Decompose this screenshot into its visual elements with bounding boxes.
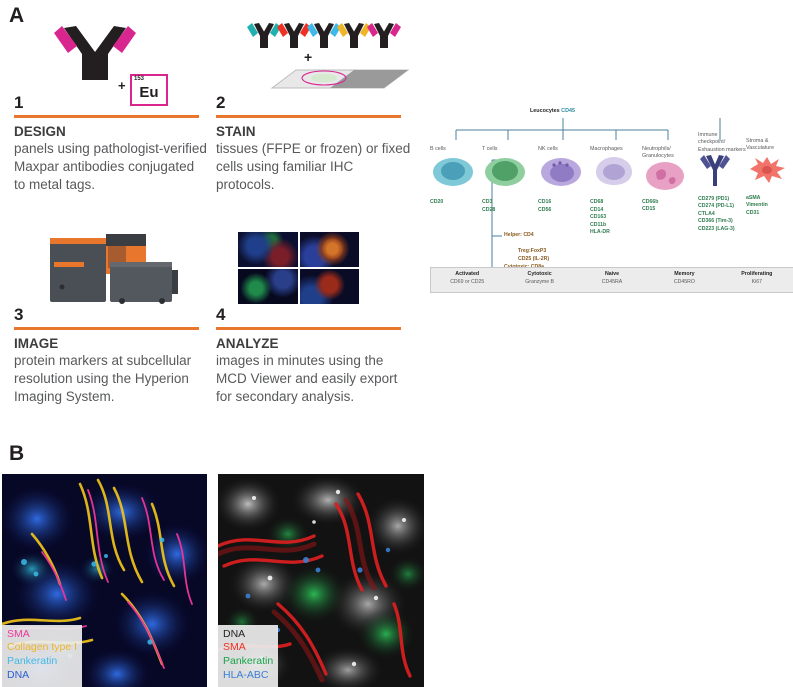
t-cell-state-table: Activated CD69 or CD25 Cytotoxic Granzym… bbox=[430, 267, 793, 293]
cell-icon-stromal bbox=[746, 155, 790, 189]
step-2-body: tissues (FFPE or frozen) or fixed cells … bbox=[216, 140, 411, 193]
antibody-panel-icon bbox=[242, 22, 402, 52]
step-1-title: DESIGN bbox=[14, 123, 209, 141]
step-1-body: panels using pathologist-verified Maxpar… bbox=[14, 140, 209, 193]
step-4-title: ANALYZE bbox=[216, 335, 411, 353]
node-markers: CD3 CD28 bbox=[482, 199, 540, 214]
node-label: T cells bbox=[482, 146, 540, 153]
imc-thumb bbox=[300, 232, 360, 267]
t-subset-treg: Treg:FoxP3 CD25 (IL-2R) bbox=[518, 248, 549, 263]
state-title: Naive bbox=[576, 271, 648, 279]
state-column-cytotoxic: Cytotoxic Granzyme B bbox=[503, 268, 575, 292]
node-markers: CD66b CD15 bbox=[642, 199, 698, 214]
step-1-number: 1 bbox=[14, 94, 209, 111]
state-column-activated: Activated CD69 or CD25 bbox=[431, 268, 503, 292]
antibody-icon bbox=[52, 24, 138, 86]
lineage-root: Leucocytes CD45 bbox=[530, 108, 575, 114]
step-4-body: images in minutes using the MCD Viewer a… bbox=[216, 352, 411, 405]
step-4-artwork bbox=[216, 232, 411, 304]
state-column-proliferating: Proliferating Ki67 bbox=[721, 268, 793, 292]
step-1-artwork: + 153 Eu bbox=[14, 20, 209, 92]
node-label: Immune checkpoint/ Exhaustion markers bbox=[698, 132, 746, 154]
state-markers: CD69 or CD25 bbox=[431, 279, 503, 287]
state-title: Cytotoxic bbox=[503, 271, 575, 279]
state-markers: CD45RA bbox=[576, 279, 648, 287]
lineage-root-marker: CD45 bbox=[561, 108, 575, 114]
step-3-body: protein markers at subcellular resolutio… bbox=[14, 352, 209, 405]
step-3-divider bbox=[14, 327, 199, 330]
lineage-root-label: Leucocytes bbox=[530, 108, 560, 114]
state-markers: CD45RO bbox=[648, 279, 720, 287]
metal-tag-box: 153 Eu bbox=[130, 74, 168, 106]
imc-thumb bbox=[238, 269, 298, 304]
lineage-node-t-cells: T cells CD3 CD28 bbox=[482, 146, 540, 214]
legend-left: SMA Collagen type I Pankeratin DNA bbox=[2, 625, 82, 687]
plus-symbol: + bbox=[304, 49, 312, 65]
plus-symbol: + bbox=[118, 78, 126, 93]
imc-thumb bbox=[238, 232, 298, 267]
step-2-title: STAIN bbox=[216, 123, 411, 141]
legend-item: HLA-ABC bbox=[223, 669, 273, 683]
node-markers: CD20 bbox=[430, 199, 488, 207]
lineage-node-checkpoint-markers: Immune checkpoint/ Exhaustion markers CD… bbox=[698, 132, 746, 234]
cell-icon-nk-cell bbox=[538, 153, 596, 187]
node-label: Stroma & Vasculature bbox=[746, 138, 790, 153]
legend-item: Pankeratin bbox=[7, 655, 77, 669]
tissue-slide-icon bbox=[246, 66, 411, 92]
legend-right: DNA SMA Pankeratin HLA-ABC bbox=[218, 625, 278, 687]
legend-item: DNA bbox=[7, 669, 77, 683]
lineage-node-nk-cells: NK cells CD16 CD56 bbox=[538, 146, 596, 214]
lineage-node-neutrophils: Neutrophils/ Granulocytes CD66b CD15 bbox=[642, 146, 698, 214]
imc-thumb bbox=[300, 269, 360, 304]
step-2-divider bbox=[216, 115, 401, 118]
node-markers: aSMA Vimentin CD31 bbox=[746, 195, 790, 218]
workflow-step-2: + 2 STAIN tissues (FFPE or frozen) or fi… bbox=[216, 20, 411, 194]
node-label: NK cells bbox=[538, 146, 596, 153]
workflow-step-4: 4 ANALYZE images in minutes using the MC… bbox=[216, 232, 411, 406]
imc-image-right: DNA SMA Pankeratin HLA-ABC bbox=[218, 474, 424, 687]
imc-image-grid bbox=[238, 232, 359, 304]
node-label: B cells bbox=[430, 146, 488, 153]
step-3-artwork bbox=[14, 232, 209, 304]
legend-item: SMA bbox=[7, 628, 77, 642]
hyperion-instrument-icon bbox=[48, 232, 183, 309]
workflow-step-1: + 153 Eu 1 DESIGN panels using pathologi… bbox=[14, 20, 209, 194]
t-subset-helper: Helper: CD4 bbox=[504, 232, 534, 240]
legend-item: Collagen type I bbox=[7, 641, 77, 655]
step-2-artwork: + bbox=[216, 20, 411, 92]
cell-icon-b-cell bbox=[430, 153, 488, 187]
checkpoint-antibody-icon bbox=[698, 154, 746, 188]
step-3-title: IMAGE bbox=[14, 335, 209, 353]
legend-item: DNA bbox=[223, 628, 273, 642]
workflow-step-3: 3 IMAGE protein markers at subcellular r… bbox=[14, 232, 209, 406]
cell-icon-neutrophil bbox=[642, 157, 698, 191]
imc-image-left: SMA Collagen type I Pankeratin DNA bbox=[2, 474, 207, 687]
state-title: Proliferating bbox=[721, 271, 793, 279]
step-4-number: 4 bbox=[216, 306, 411, 323]
step-2-number: 2 bbox=[216, 94, 411, 111]
node-markers: CD279 (PD1) CD274 (PD-L1) CTLA4 CD366 (T… bbox=[698, 196, 746, 234]
lineage-node-stroma: Stroma & Vasculature aSMA Vimentin CD31 bbox=[746, 138, 790, 217]
isotope-symbol: Eu bbox=[132, 84, 166, 101]
state-markers: Ki67 bbox=[721, 279, 793, 287]
state-title: Memory bbox=[648, 271, 720, 279]
step-1-divider bbox=[14, 115, 199, 118]
lineage-node-b-cells: B cells CD20 bbox=[430, 146, 488, 207]
state-column-naive: Naive CD45RA bbox=[576, 268, 648, 292]
cell-icon-t-cell bbox=[482, 153, 540, 187]
panel-b-letter: B bbox=[9, 442, 24, 466]
isotope-mass: 153 bbox=[134, 76, 144, 82]
state-title: Activated bbox=[431, 271, 503, 279]
legend-item: Pankeratin bbox=[223, 655, 273, 669]
step-4-divider bbox=[216, 327, 401, 330]
legend-item: SMA bbox=[223, 641, 273, 655]
node-markers: CD16 CD56 bbox=[538, 199, 596, 214]
state-column-memory: Memory CD45RO bbox=[648, 268, 720, 292]
state-markers: Granzyme B bbox=[503, 279, 575, 287]
